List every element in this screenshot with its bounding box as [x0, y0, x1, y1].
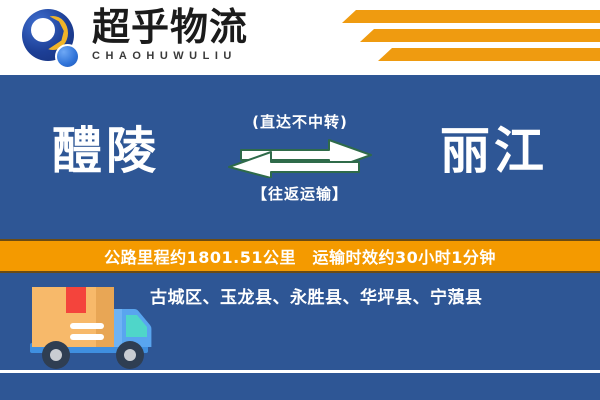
origin-city: 醴陵 [52, 121, 160, 181]
distance-duration-text: 公路里程约1801.51公里 运输时效约30小时1分钟 [104, 244, 496, 268]
coverage-area-row: 古城区、玉龙县、永胜县、华坪县、宁蒗县 [150, 280, 550, 310]
logistics-route-poster: 超乎物流 CHAOHUWULIU 醴陵 (直达不中转) [0, 0, 600, 400]
route-row: 醴陵 (直达不中转) 【往返运输】 丽江 [0, 103, 600, 233]
brand-name-en: CHAOHUWULIU [92, 49, 248, 63]
header-bar: 超乎物流 CHAOHUWULIU [0, 0, 600, 75]
stripe-3 [378, 48, 600, 61]
circle-moon-logo-icon [22, 9, 80, 67]
logo-inner-hole [31, 18, 55, 42]
destination-city: 丽江 [440, 121, 548, 181]
direct-service-note: (直达不中转) [225, 111, 375, 132]
stripe-1 [342, 10, 600, 23]
distance-duration-banner: 公路里程约1801.51公里 运输时效约30小时1分钟 [0, 239, 600, 273]
bidirectional-arrow-icon [225, 136, 375, 178]
route-middle: (直达不中转) 【往返运输】 [225, 103, 375, 223]
orange-speed-stripes-icon [330, 10, 600, 66]
brand-name-cn: 超乎物流 [92, 6, 248, 48]
roundtrip-note: 【往返运输】 [225, 183, 375, 204]
brand-logo: 超乎物流 CHAOHUWULIU [22, 6, 292, 68]
stripe-2 [360, 29, 600, 42]
coverage-area-text: 古城区、玉龙县、永胜县、华坪县、宁蒗县 [150, 283, 483, 308]
bottom-divider [0, 370, 600, 373]
delivery-truck-icon [26, 271, 166, 377]
brand-text-block: 超乎物流 CHAOHUWULIU [92, 6, 248, 63]
logo-small-dot [55, 44, 80, 69]
main-blue-panel: 醴陵 (直达不中转) 【往返运输】 丽江 公路里程约1801.51公里 运输时效… [0, 75, 600, 400]
